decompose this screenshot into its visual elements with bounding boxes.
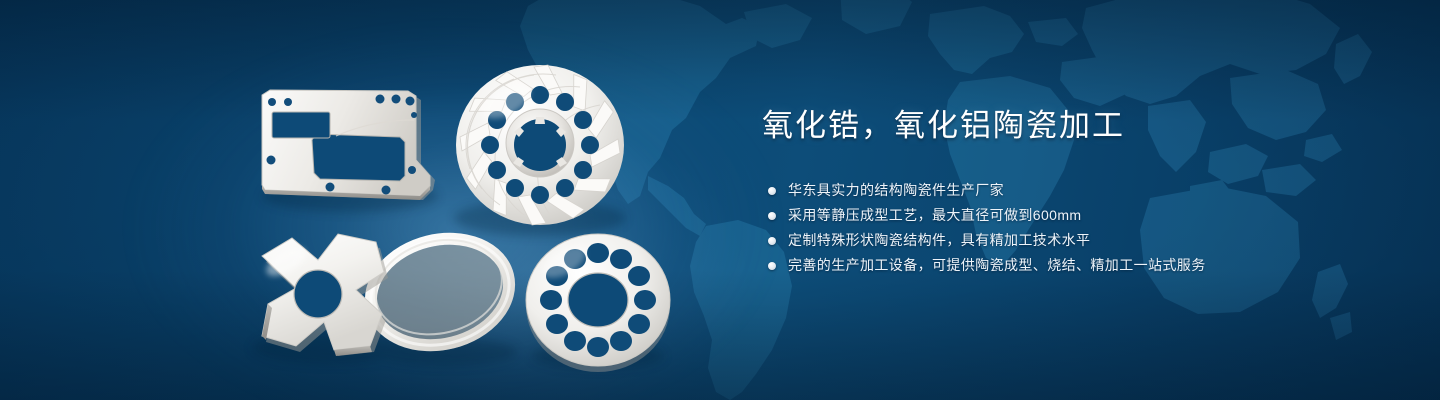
list-item-label: 完善的生产加工设备，可提供陶瓷成型、烧结、精加工一站式服务	[788, 253, 1206, 278]
list-item: 华东具实力的结构陶瓷件生产厂家	[768, 178, 1382, 203]
ceramic-impeller-disc	[456, 65, 624, 226]
product-photo-group	[0, 0, 720, 400]
promo-banner: 氧化锆，氧化铝陶瓷加工 华东具实力的结构陶瓷件生产厂家 采用等静压成型工艺，最大…	[0, 0, 1440, 400]
list-item-label: 采用等静压成型工艺，最大直径可做到600mm	[788, 203, 1081, 228]
bullet-dot-icon	[768, 187, 776, 195]
copy-block: 氧化锆，氧化铝陶瓷加工 华东具实力的结构陶瓷件生产厂家 采用等静压成型工艺，最大…	[762, 106, 1382, 278]
list-item: 采用等静压成型工艺，最大直径可做到600mm	[768, 203, 1382, 228]
feature-list: 华东具实力的结构陶瓷件生产厂家 采用等静压成型工艺，最大直径可做到600mm 定…	[768, 178, 1382, 278]
list-item: 完善的生产加工设备，可提供陶瓷成型、烧结、精加工一站式服务	[768, 253, 1382, 278]
list-item-label: 定制特殊形状陶瓷结构件，具有精加工技术水平	[788, 228, 1090, 253]
ceramic-perforated-disc	[526, 234, 670, 372]
list-item-label: 华东具实力的结构陶瓷件生产厂家	[788, 178, 1004, 203]
bullet-dot-icon	[768, 262, 776, 270]
bullet-dot-icon	[768, 237, 776, 245]
page-title: 氧化锆，氧化铝陶瓷加工	[762, 106, 1382, 146]
list-item: 定制特殊形状陶瓷结构件，具有精加工技术水平	[768, 228, 1382, 253]
bullet-dot-icon	[768, 212, 776, 220]
ceramic-plate-cutout	[262, 90, 435, 200]
